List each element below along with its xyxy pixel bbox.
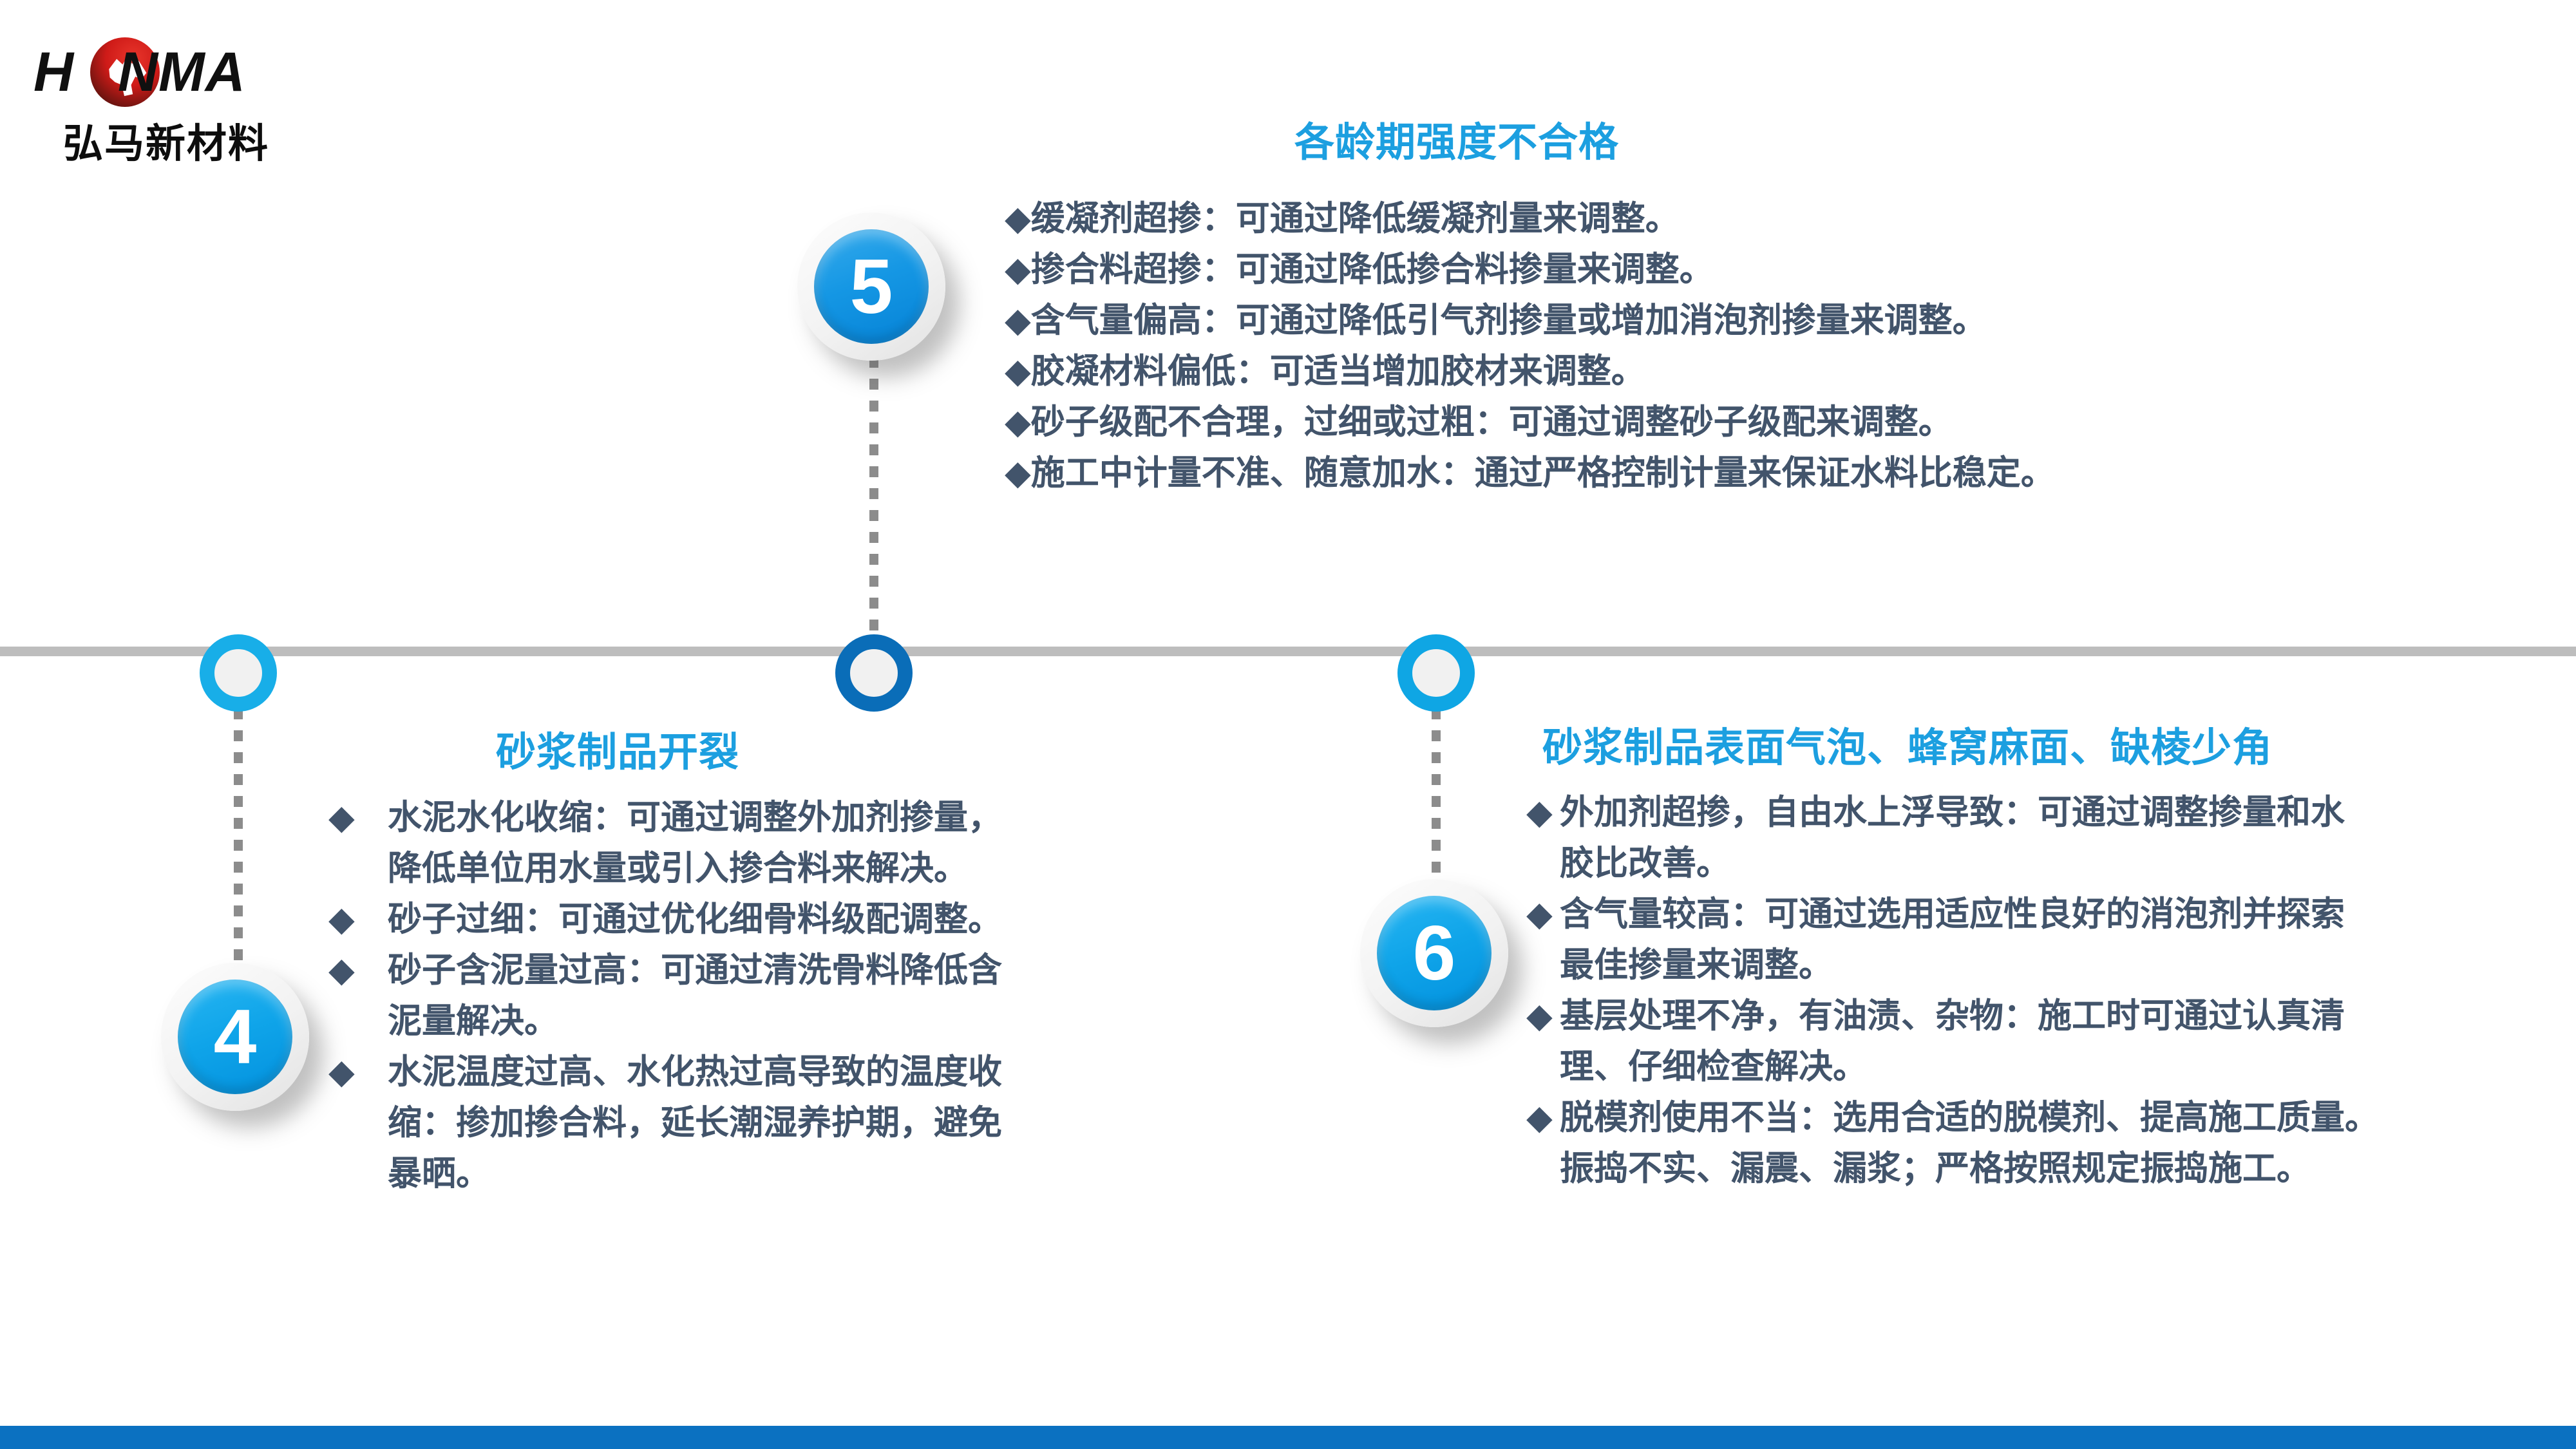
timeline-node-5[interactable] [835,634,913,712]
bullet-item: ◆ 外加剂超掺，自由水上浮导致：可通过调整掺量和水 胶比改善。 [1526,787,2570,889]
bullet-text-line: 水泥水化收缩：可通过调整外加剂掺量， [388,792,1185,843]
bullet-glyph: ◆ [1005,402,1031,442]
step-bubble-4[interactable]: 4 [161,963,309,1111]
bullet-item: ◆掺合料超掺：可通过降低掺合料掺量来调整。 [1005,244,2563,295]
step-number-6: 6 [1413,914,1456,992]
bullet-item: ◆ 砂子过细：可通过优化细骨料级配调整。 [328,894,1185,945]
bullet-text: 脱模剂使用不当：选用合适的脱模剂、提高施工质量。 振捣不实、漏震、漏浆；严格按照… [1560,1092,2570,1194]
section-body-5: ◆缓凝剂超掺：可通过降低缓凝剂量来调整。 ◆掺合料超掺：可通过降低掺合料掺量来调… [1005,193,2563,498]
bullet-text-line: 最佳掺量来调整。 [1560,940,2570,990]
bullet-text: 胶凝材料偏低：可适当增加胶材来调整。 [1031,352,1645,391]
bullet-glyph: ◆ [1005,250,1031,289]
bullet-glyph: ◆ [1005,352,1031,391]
bullet-text-line: 砂子过细：可通过优化细骨料级配调整。 [388,894,1185,945]
logo-latin-left: H [33,41,74,103]
bullet-text-line: 含气量较高：可通过选用适应性良好的消泡剂并探索 [1560,889,2570,940]
timeline-axis [0,647,2576,656]
bullet-text-line: 脱模剂使用不当：选用合适的脱模剂、提高施工质量。 [1560,1092,2570,1143]
bullet-item: ◆缓凝剂超掺：可通过降低缓凝剂量来调整。 [1005,193,2563,244]
bullet-item: ◆ 基层处理不净，有油渍、杂物：施工时可通过认真清 理、仔细检查解决。 [1526,990,2570,1092]
bullet-text: 施工中计量不准、随意加水：通过严格控制计量来保证水料比稳定。 [1031,453,2055,493]
step-bubble-6[interactable]: 6 [1360,879,1508,1027]
bullet-text-line: 砂子含泥量过高：可通过清洗骨料降低含 [388,945,1185,996]
bullet-text: 外加剂超掺，自由水上浮导致：可通过调整掺量和水 胶比改善。 [1560,787,2570,889]
bullet-text-line: 胶比改善。 [1560,838,2570,889]
bullet-text: 缓凝剂超掺：可通过降低缓凝剂量来调整。 [1031,199,1680,238]
logo-latin-text: HONMA [33,32,246,113]
bullet-glyph: ◆ [1005,301,1031,340]
bullet-item: ◆胶凝材料偏低：可适当增加胶材来调整。 [1005,346,2563,397]
bullet-item: ◆ 脱模剂使用不当：选用合适的脱模剂、提高施工质量。 振捣不实、漏震、漏浆；严格… [1526,1092,2570,1194]
bullet-text-line: 缩：掺加掺合料，延长潮湿养护期，避免 [388,1097,1185,1148]
bullet-text-line: 理、仔细检查解决。 [1560,1041,2570,1092]
bullet-item: ◆ 水泥水化收缩：可通过调整外加剂掺量， 降低单位用水量或引入掺合料来解决。 [328,792,1185,894]
connector-dots-4 [234,708,243,1005]
bullet-text-line: 泥量解决。 [388,996,1185,1046]
slide-canvas: HONMA 弘马新材料 5 4 6 各龄期强度不合格 ◆缓凝剂超掺：可通过降低缓… [0,0,2576,1449]
bullet-item: ◆ 水泥温度过高、水化热过高导致的温度收 缩：掺加掺合料，延长潮湿养护期，避免 … [328,1046,1185,1199]
section-body-6: ◆ 外加剂超掺，自由水上浮导致：可通过调整掺量和水 胶比改善。 ◆ 含气量较高：… [1526,787,2570,1194]
bullet-item: ◆含气量偏高：可通过降低引气剂掺量或增加消泡剂掺量来调整。 [1005,295,2563,346]
bullet-glyph: ◆ [328,945,388,1046]
bullet-text: 水泥水化收缩：可通过调整外加剂掺量， 降低单位用水量或引入掺合料来解决。 [388,792,1185,894]
bullet-glyph: ◆ [1005,199,1031,238]
section-body-4: ◆ 水泥水化收缩：可通过调整外加剂掺量， 降低单位用水量或引入掺合料来解决。 ◆… [328,792,1185,1199]
section-title-5: 各龄期强度不合格 [1294,109,1619,167]
bullet-text-line: 基层处理不净，有油渍、杂物：施工时可通过认真清 [1560,990,2570,1041]
bullet-glyph: ◆ [1526,787,1560,889]
bullet-glyph: ◆ [1526,1092,1560,1194]
section-title-6: 砂浆制品表面气泡、蜂窝麻面、缺棱少角 [1542,715,2273,773]
bullet-text-line: 振捣不实、漏震、漏浆；严格按照规定振捣施工。 [1560,1143,2570,1194]
bullet-glyph: ◆ [328,894,388,945]
bullet-item: ◆ 含气量较高：可通过选用适应性良好的消泡剂并探索 最佳掺量来调整。 [1526,889,2570,990]
logo-latin-row: HONMA [33,32,246,113]
bullet-glyph: ◆ [328,792,388,894]
logo-latin-right: NMA [118,41,246,103]
section-title-4: 砂浆制品开裂 [496,719,739,777]
bullet-text-line: 降低单位用水量或引入掺合料来解决。 [388,843,1185,894]
bullet-item: ◆施工中计量不准、随意加水：通过严格控制计量来保证水料比稳定。 [1005,448,2563,498]
bullet-glyph: ◆ [328,1046,388,1199]
bullet-item: ◆砂子级配不合理，过细或过粗：可通过调整砂子级配来调整。 [1005,397,2563,448]
bullet-text-line: 外加剂超掺，自由水上浮导致：可通过调整掺量和水 [1560,787,2570,838]
timeline-node-4[interactable] [200,634,277,712]
bullet-text: 含气量较高：可通过选用适应性良好的消泡剂并探索 最佳掺量来调整。 [1560,889,2570,990]
bullet-text: 水泥温度过高、水化热过高导致的温度收 缩：掺加掺合料，延长潮湿养护期，避免 暴晒… [388,1046,1185,1199]
bullet-text-line: 暴晒。 [388,1148,1185,1199]
bullet-text: 砂子级配不合理，过细或过粗：可通过调整砂子级配来调整。 [1031,402,1953,442]
logo-chinese-text: 弘马新材料 [63,111,256,169]
bullet-text: 含气量偏高：可通过降低引气剂掺量或增加消泡剂掺量来调整。 [1031,301,1987,340]
step-number-5: 5 [850,248,893,325]
connector-dots-5 [869,335,878,638]
connector-dots-6 [1432,708,1441,876]
step-number-4: 4 [214,998,257,1075]
bullet-text: 掺合料超掺：可通过降低掺合料掺量来调整。 [1031,250,1714,289]
bullet-text: 基层处理不净，有油渍、杂物：施工时可通过认真清 理、仔细检查解决。 [1560,990,2570,1092]
bullet-glyph: ◆ [1005,453,1031,493]
timeline-node-6[interactable] [1397,634,1475,712]
bullet-text-line: 水泥温度过高、水化热过高导致的温度收 [388,1046,1185,1097]
bullet-text: 砂子含泥量过高：可通过清洗骨料降低含 泥量解决。 [388,945,1185,1046]
bullet-item: ◆ 砂子含泥量过高：可通过清洗骨料降低含 泥量解决。 [328,945,1185,1046]
step-bubble-5[interactable]: 5 [797,213,945,361]
bullet-text: 砂子过细：可通过优化细骨料级配调整。 [388,894,1185,945]
company-logo: HONMA 弘马新材料 [33,32,246,171]
bullet-glyph: ◆ [1526,990,1560,1092]
footer-bar [0,1426,2576,1449]
bullet-glyph: ◆ [1526,889,1560,990]
